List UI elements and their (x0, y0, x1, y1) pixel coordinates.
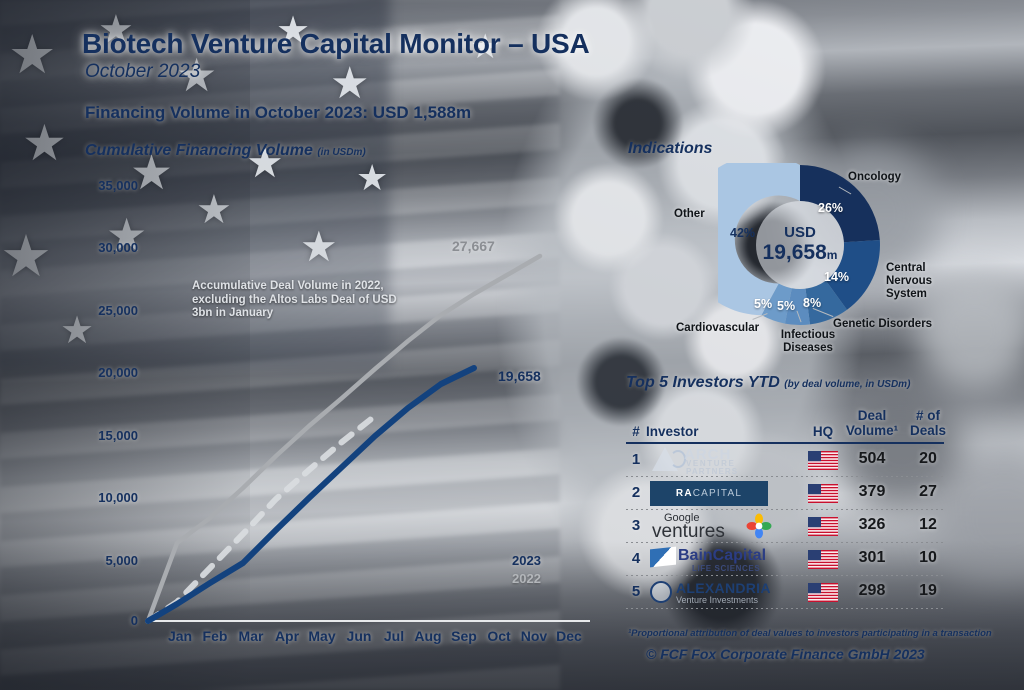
flag-icon-usa (808, 517, 838, 536)
row-deals: 12 (908, 516, 948, 534)
investor-logo-line1: ALEXANDRIA (676, 580, 771, 596)
row-deal-volume: 326 (844, 516, 900, 534)
alexandria-badge-icon (650, 581, 672, 603)
column-header-deals-line1: # of (906, 408, 950, 423)
x-tick-apr: Apr (269, 628, 305, 644)
donut-pct-infectious: 5% (777, 299, 795, 313)
donut-label-cns: Central Nervous System (886, 262, 946, 301)
x-tick-jun: Jun (341, 628, 377, 644)
row-deal-volume: 379 (844, 483, 900, 501)
donut-label-oncology: Oncology (848, 171, 901, 184)
x-tick-mar: Mar (233, 628, 269, 644)
row-rank: 3 (628, 517, 644, 534)
investor-logo-google-ventures: Google ventures (650, 512, 790, 541)
column-header-deal-volume-line1: Deal (842, 408, 902, 423)
x-tick-jan: Jan (162, 628, 198, 644)
investor-logo-line2: LIFE SCIENCES (692, 564, 760, 573)
table-footnote: ¹Proportional attribution of deal values… (628, 628, 992, 639)
chart-annotation: Accumulative Deal Volume in 2022, exclud… (192, 280, 407, 321)
investor-logo-line2: ventures (652, 521, 725, 543)
table-row[interactable]: 5 ALEXANDRIA Venture Investments 298 19 (626, 576, 1016, 609)
racapital-box: RA CAPITAL (650, 481, 768, 506)
donut-label-cns-line3: System (886, 288, 946, 301)
x-tick-feb: Feb (197, 628, 233, 644)
column-header-rank: # (626, 424, 646, 439)
google-pinwheel-icon (746, 513, 772, 539)
row-deal-volume: 504 (844, 450, 900, 468)
column-header-deal-volume-line2: Volume¹ (842, 423, 902, 438)
x-tick-may: May (304, 628, 340, 644)
investors-heading-unit: (by deal volume, in USDm) (784, 379, 910, 390)
cumulative-financing-line-chart: 35,000 30,000 25,000 20,000 15,000 10,00… (70, 168, 610, 638)
investor-logo-racapital: RA CAPITAL (650, 479, 790, 508)
table-header-row: # Investor HQ Deal Volume¹ # of Deals (626, 398, 1016, 444)
x-tick-sep: Sep (446, 628, 482, 644)
donut-svg (718, 163, 882, 327)
donut-pct-cns: 14% (824, 270, 849, 284)
donut-label-other: Other (674, 208, 705, 221)
row-rank: 5 (628, 583, 644, 600)
x-tick-nov: Nov (516, 628, 552, 644)
line-chart-heading-unit: (in USDm) (317, 147, 365, 158)
row-deal-volume: 301 (844, 549, 900, 567)
donut-pct-other: 42% (730, 226, 755, 240)
row-rank: 1 (628, 451, 644, 468)
flag-icon-usa (808, 583, 838, 602)
line-chart-heading-text: Cumulative Financing Volume (85, 142, 313, 159)
donut-label-cns-line2: Nervous (886, 275, 946, 288)
legend-2023: 2023 (512, 553, 541, 568)
series-2023-value-label: 19,658 (498, 368, 541, 384)
investor-logo-alexandria: ALEXANDRIA Venture Investments (650, 578, 790, 607)
investor-logo-line3: PARTNERS (686, 467, 738, 476)
x-tick-oct: Oct (481, 628, 517, 644)
legend-2022: 2022 (512, 571, 541, 586)
row-rank: 4 (628, 550, 644, 567)
series-2022-value-label: 27,667 (452, 238, 495, 254)
row-deals: 19 (908, 582, 948, 600)
row-deals: 10 (908, 549, 948, 567)
copyright-notice: © FCF Fox Corporate Finance GmbH 2023 (646, 646, 925, 662)
donut-label-infectious: Infectious Diseases (771, 329, 845, 355)
flag-icon-usa (808, 550, 838, 569)
row-deals: 20 (908, 450, 948, 468)
x-tick-aug: Aug (410, 628, 446, 644)
x-tick-jul: Jul (376, 628, 412, 644)
table-row[interactable]: 1 ARCH VENTURE PARTNERS 504 20 (626, 444, 1016, 477)
line-chart-heading: Cumulative Financing Volume (in USDm) (85, 142, 366, 160)
infographic-canvas: ★ ★ ★ ★ ★ ★ ★ ★ ★ ★ ★ ★ ★ ★ ★ Biotech Ve… (0, 0, 1024, 690)
donut-label-cns-line1: Central (886, 262, 946, 275)
row-divider (626, 608, 944, 609)
column-header-deals: # of Deals (906, 408, 950, 438)
row-rank: 2 (628, 484, 644, 501)
investors-heading-text: Top 5 Investors YTD (626, 374, 780, 391)
indications-heading: Indications (628, 140, 712, 158)
investor-logo-line2: CAPITAL (693, 488, 742, 499)
row-deals: 27 (908, 483, 948, 501)
financing-volume-summary: Financing Volume in October 2023: USD 1,… (85, 103, 471, 123)
column-header-deal-volume: Deal Volume¹ (842, 408, 902, 438)
column-header-deals-line2: Deals (906, 423, 950, 438)
row-deal-volume: 298 (844, 582, 900, 600)
top-investors-table: # Investor HQ Deal Volume¹ # of Deals 1 … (626, 398, 1016, 609)
x-tick-dec: Dec (551, 628, 587, 644)
series-2022-ex-altos-line (148, 416, 375, 621)
bain-flag-icon (650, 547, 676, 568)
donut-label-genetic: Genetic Disorders (833, 318, 932, 331)
table-row[interactable]: 4 BainCapital LIFE SCIENCES 301 10 (626, 543, 1016, 576)
investor-logo-arch: ARCH VENTURE PARTNERS (650, 446, 790, 475)
flag-icon-usa (808, 451, 838, 470)
investor-logo-line2: Venture Investments (676, 595, 758, 605)
column-header-investor: Investor (646, 424, 730, 439)
investor-logo-line1: RA (676, 488, 693, 499)
table-row[interactable]: 2 RA CAPITAL 379 27 (626, 477, 1016, 510)
donut-label-cardiovascular: Cardiovascular (676, 322, 759, 335)
indications-donut-chart: USD 19,658m (718, 163, 882, 327)
donut-pct-cardiovascular: 5% (754, 297, 772, 311)
investor-logo-bain-capital: BainCapital LIFE SCIENCES (650, 545, 790, 574)
donut-pct-oncology: 26% (818, 201, 843, 215)
column-header-hq: HQ (802, 424, 844, 439)
donut-label-infectious-line1: Infectious (771, 329, 845, 342)
investors-heading: Top 5 Investors YTD (by deal volume, in … (626, 374, 910, 392)
table-row[interactable]: 3 Google ventures 326 12 (626, 510, 1016, 543)
page-subtitle: October 2023 (85, 61, 200, 83)
flag-icon-usa (808, 484, 838, 503)
investor-logo-line1: BainCapital (678, 547, 766, 565)
page-title: Biotech Venture Capital Monitor – USA (82, 28, 590, 60)
donut-label-infectious-line2: Diseases (771, 342, 845, 355)
